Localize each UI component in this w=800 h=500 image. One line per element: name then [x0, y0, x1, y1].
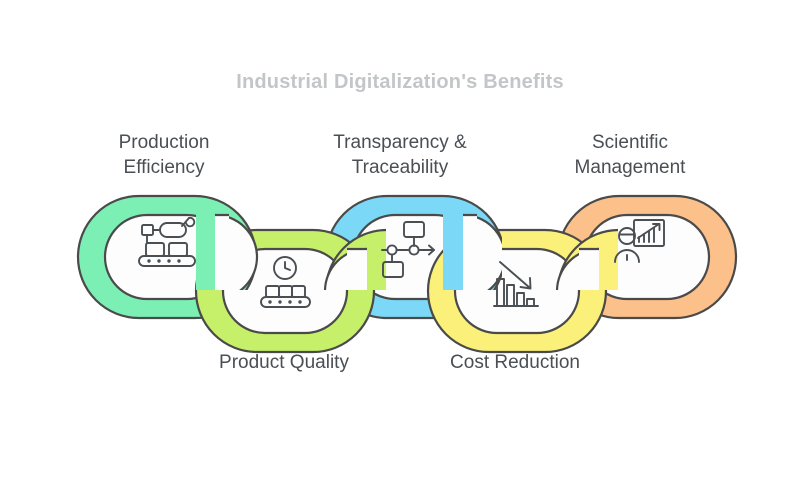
node-label-product-quality: Product Quality	[175, 350, 393, 375]
node-label-transparency-traceability: Transparency & Traceability	[290, 130, 510, 180]
chain-diagram	[0, 0, 800, 500]
chain-links-group	[78, 196, 736, 352]
node-label-cost-reduction: Cost Reduction	[405, 350, 625, 375]
node-label-scientific-management: Scientific Management	[520, 130, 740, 180]
node-label-production-efficiency: Production Efficiency	[58, 130, 270, 180]
